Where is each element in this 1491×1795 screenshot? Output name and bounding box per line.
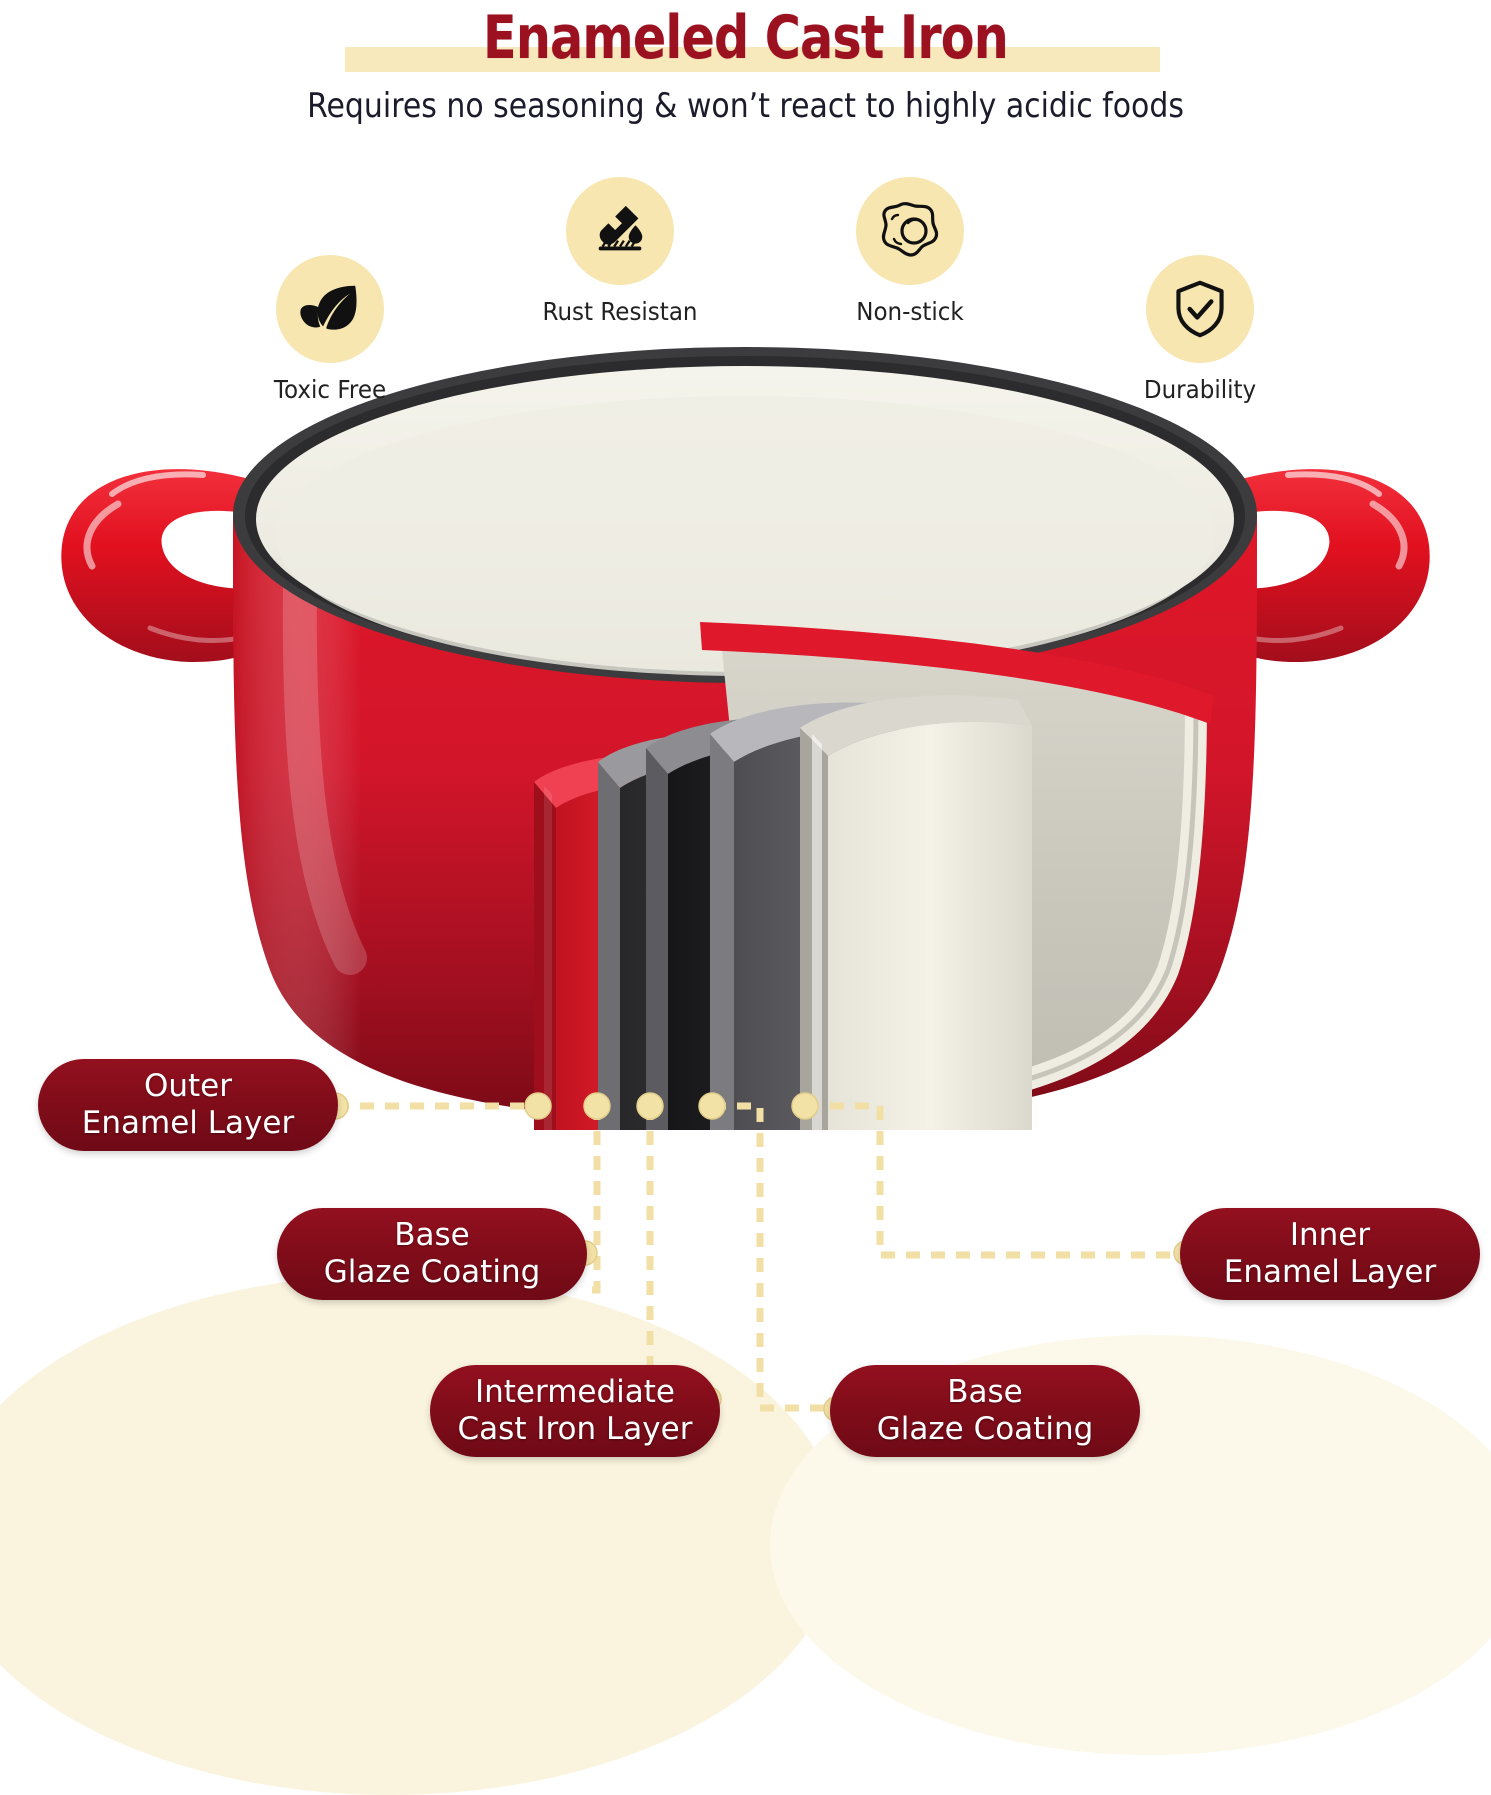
fried-egg-icon: [878, 199, 942, 263]
page-title: Enameled Cast Iron: [134, 0, 1357, 76]
callout-line-1: Inner: [1224, 1217, 1436, 1254]
feature-label: Non-stick: [818, 297, 1002, 326]
connector-base-glaze-left: [589, 1106, 597, 1290]
background-glow-left: [0, 1275, 840, 1795]
title-wrap: Enameled Cast Iron: [0, 0, 1491, 82]
infographic-canvas: Enameled Cast Iron Requires no seasoning…: [0, 0, 1491, 1500]
feature-icon-circle: [856, 177, 964, 285]
callout-line-2: Enamel Layer: [1224, 1254, 1436, 1291]
header: Enameled Cast Iron Requires no seasoning…: [0, 0, 1491, 82]
feature-icon-circle: [276, 255, 384, 363]
callout-line-2: Cast Iron Layer: [458, 1411, 693, 1448]
layer-slab-inner-enamel: [800, 695, 1032, 1130]
callout-line-1: Base: [877, 1374, 1094, 1411]
feature-label: Toxic Free: [238, 375, 422, 404]
callout-line-1: Outer: [82, 1068, 294, 1105]
callout-line-2: Glaze Coating: [324, 1254, 541, 1291]
test-tube-droplet-icon: [589, 200, 651, 262]
feature-icon-circle: [1146, 255, 1254, 363]
feature-badge-rust-resistan: Rust Resistan: [520, 177, 720, 326]
connector-base-glaze-right: [712, 1106, 828, 1408]
layer-slabs: [534, 695, 1032, 1130]
callout-base-glaze-coating-left[interactable]: Base Glaze Coating: [277, 1208, 587, 1300]
callout-line-2: Glaze Coating: [877, 1411, 1094, 1448]
shield-check-icon: [1170, 279, 1230, 339]
feature-label: Durability: [1108, 375, 1292, 404]
callout-inner-enamel-layer[interactable]: Inner Enamel Layer: [1180, 1208, 1480, 1300]
feature-badge-durability: Durability: [1100, 255, 1300, 404]
callout-intermediate-cast-iron-layer[interactable]: Intermediate Cast Iron Layer: [430, 1365, 720, 1457]
feature-icon-circle: [566, 177, 674, 285]
page-subtitle: Requires no seasoning & won’t react to h…: [89, 82, 1401, 130]
leaves-icon: [299, 278, 361, 340]
dutch-oven-illustration: [0, 330, 1491, 1130]
callout-line-2: Enamel Layer: [82, 1105, 294, 1142]
feature-badge-non-stick: Non-stick: [810, 177, 1010, 326]
callout-outer-enamel-layer[interactable]: Outer Enamel Layer: [38, 1059, 338, 1151]
callout-base-glaze-coating-right[interactable]: Base Glaze Coating: [830, 1365, 1140, 1457]
callout-line-1: Base: [324, 1217, 541, 1254]
feature-badge-toxic-free: Toxic Free: [230, 255, 430, 404]
feature-label: Rust Resistan: [528, 297, 712, 326]
callout-line-1: Intermediate: [458, 1374, 693, 1411]
